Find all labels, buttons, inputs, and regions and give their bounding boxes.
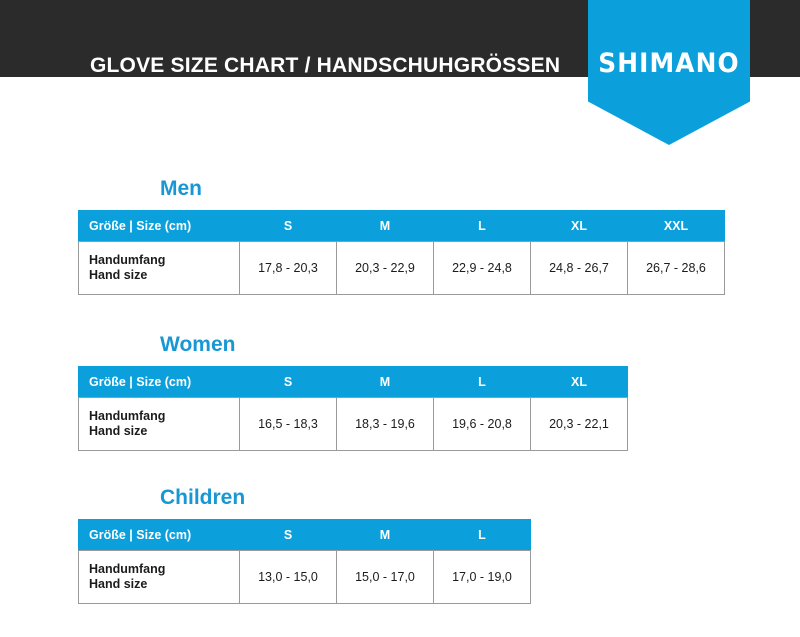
size-table-children: Größe | Size (cm) S M L Handumfang Hand … — [78, 519, 531, 604]
column-header-l: L — [434, 520, 531, 551]
cell-value-l: 22,9 - 24,8 — [434, 242, 531, 295]
section-children: Children Größe | Size (cm) S M L Handumf… — [78, 486, 531, 604]
cell-value-s: 17,8 - 20,3 — [240, 242, 337, 295]
column-header-s: S — [240, 367, 337, 398]
table-row: Handumfang Hand size 13,0 - 15,0 15,0 - … — [79, 551, 531, 604]
page-title: GLOVE SIZE CHART / HANDSCHUHGRÖSSEN — [90, 54, 560, 77]
row-label-line2: Hand size — [89, 424, 239, 439]
size-table-women: Größe | Size (cm) S M L XL Handumfang Ha… — [78, 366, 628, 451]
cell-value-s: 13,0 - 15,0 — [240, 551, 337, 604]
size-table-men: Größe | Size (cm) S M L XL XXL Handumfan… — [78, 210, 725, 295]
row-label-line1: Handumfang — [89, 253, 239, 268]
cell-value-xl: 20,3 - 22,1 — [531, 398, 628, 451]
row-label-line2: Hand size — [89, 577, 239, 592]
table-header-row: Größe | Size (cm) S M L — [79, 520, 531, 551]
column-header-l: L — [434, 367, 531, 398]
cell-value-s: 16,5 - 18,3 — [240, 398, 337, 451]
column-header-xl: XL — [531, 367, 628, 398]
cell-value-m: 15,0 - 17,0 — [337, 551, 434, 604]
section-title-men: Men — [78, 177, 725, 201]
row-label-line1: Handumfang — [89, 562, 239, 577]
cell-value-m: 18,3 - 19,6 — [337, 398, 434, 451]
column-header-label: Größe | Size (cm) — [79, 520, 240, 551]
cell-value-m: 20,3 - 22,9 — [337, 242, 434, 295]
cell-value-l: 17,0 - 19,0 — [434, 551, 531, 604]
table-row: Handumfang Hand size 16,5 - 18,3 18,3 - … — [79, 398, 628, 451]
row-label-hand-size: Handumfang Hand size — [79, 242, 240, 295]
cell-value-xxl: 26,7 - 28,6 — [628, 242, 725, 295]
cell-value-l: 19,6 - 20,8 — [434, 398, 531, 451]
row-label-hand-size: Handumfang Hand size — [79, 398, 240, 451]
size-chart-content: Men Größe | Size (cm) S M L XL XXL Handu… — [0, 77, 800, 637]
row-label-line2: Hand size — [89, 268, 239, 283]
table-header-row: Größe | Size (cm) S M L XL — [79, 367, 628, 398]
column-header-m: M — [337, 211, 434, 242]
section-men: Men Größe | Size (cm) S M L XL XXL Handu… — [78, 177, 725, 295]
column-header-s: S — [240, 211, 337, 242]
table-row: Handumfang Hand size 17,8 - 20,3 20,3 - … — [79, 242, 725, 295]
table-header-row: Größe | Size (cm) S M L XL XXL — [79, 211, 725, 242]
shimano-logo: SHIMANO — [594, 0, 743, 79]
column-header-label: Größe | Size (cm) — [79, 367, 240, 398]
cell-value-xl: 24,8 - 26,7 — [531, 242, 628, 295]
column-header-l: L — [434, 211, 531, 242]
column-header-m: M — [337, 520, 434, 551]
column-header-xxl: XXL — [628, 211, 725, 242]
column-header-xl: XL — [531, 211, 628, 242]
section-women: Women Größe | Size (cm) S M L XL Handumf… — [78, 333, 628, 451]
section-title-children: Children — [78, 486, 531, 510]
column-header-m: M — [337, 367, 434, 398]
column-header-s: S — [240, 520, 337, 551]
column-header-label: Größe | Size (cm) — [79, 211, 240, 242]
section-title-women: Women — [78, 333, 628, 357]
row-label-hand-size: Handumfang Hand size — [79, 551, 240, 604]
row-label-line1: Handumfang — [89, 409, 239, 424]
